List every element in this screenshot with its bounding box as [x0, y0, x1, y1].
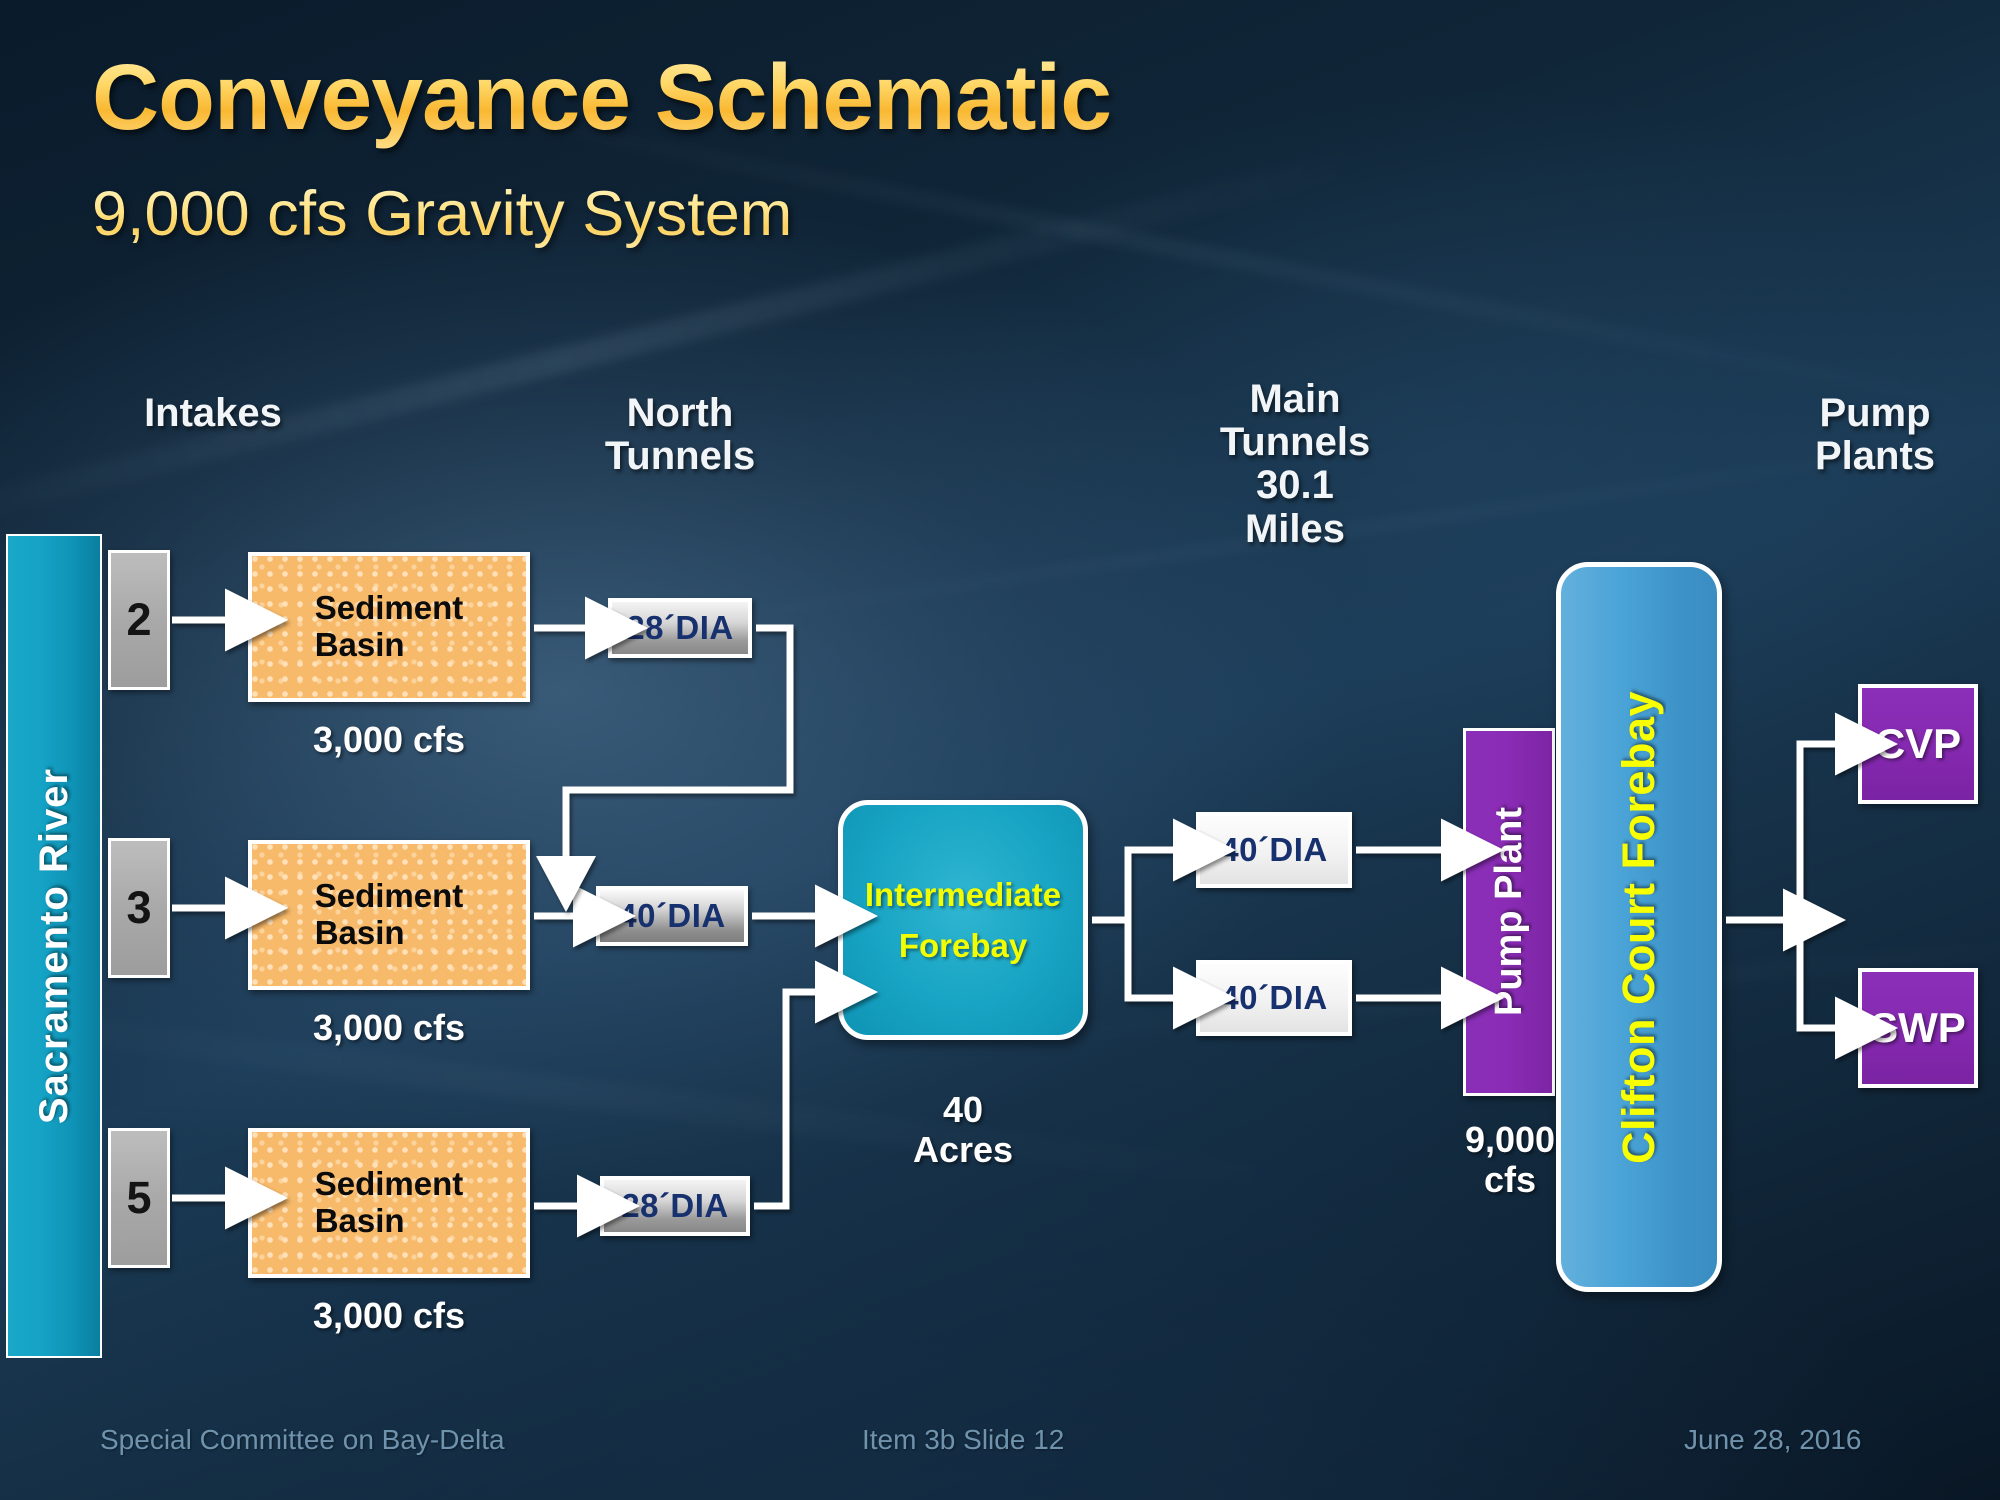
intermediate-forebay-line1: Intermediate: [865, 869, 1061, 920]
slide-canvas: Conveyance Schematic 9,000 cfs Gravity S…: [0, 0, 2000, 1500]
intake-box-3[interactable]: 3: [108, 838, 170, 978]
intermediate-forebay-area: 40 Acres: [838, 1090, 1088, 1171]
north-tunnel-28dia-top[interactable]: 28´DIA: [608, 598, 752, 658]
footer-center: Item 3b Slide 12: [862, 1424, 1064, 1456]
column-header-pump-plants: Pump Plants: [1770, 392, 1980, 478]
delivery-cvp[interactable]: CVP: [1858, 684, 1978, 804]
column-header-main-tunnels: Main Tunnels 30.1 Miles: [1175, 378, 1415, 551]
flow-label-basin-1: 3,000 cfs: [248, 720, 530, 760]
intake-box-5[interactable]: 5: [108, 1128, 170, 1268]
river-label: Sacramento River: [32, 768, 77, 1124]
slide-title: Conveyance Schematic: [92, 44, 1111, 151]
footer-right: June 28, 2016: [1684, 1424, 1862, 1456]
column-header-north-tunnels: North Tunnels: [570, 392, 790, 478]
intake-box-2[interactable]: 2: [108, 550, 170, 690]
flow-label-basin-2: 3,000 cfs: [248, 1008, 530, 1048]
sediment-basin-3[interactable]: Sediment Basin: [248, 1128, 530, 1278]
north-tunnel-40dia-middle[interactable]: 40´DIA: [596, 886, 748, 946]
sediment-basin-1[interactable]: Sediment Basin: [248, 552, 530, 702]
slide-footer: Special Committee on Bay-Delta Item 3b S…: [0, 1424, 2000, 1474]
slide-subtitle: 9,000 cfs Gravity System: [92, 178, 792, 250]
sediment-basin-2[interactable]: Sediment Basin: [248, 840, 530, 990]
main-tunnel-40dia-top[interactable]: 40´DIA: [1196, 812, 1352, 888]
delivery-swp[interactable]: SWP: [1858, 968, 1978, 1088]
north-tunnel-28dia-bottom[interactable]: 28´DIA: [600, 1176, 750, 1236]
clifton-court-forebay[interactable]: Clifton Court Forebay: [1556, 562, 1722, 1292]
clifton-court-forebay-label: Clifton Court Forebay: [1613, 691, 1665, 1164]
intermediate-forebay[interactable]: Intermediate Forebay: [838, 800, 1088, 1040]
flow-label-basin-3: 3,000 cfs: [248, 1296, 530, 1336]
sacramento-river-bar: Sacramento River: [6, 534, 102, 1358]
main-tunnel-40dia-bottom[interactable]: 40´DIA: [1196, 960, 1352, 1036]
background-streak: [0, 983, 1396, 1208]
footer-left: Special Committee on Bay-Delta: [100, 1424, 505, 1456]
column-header-intakes: Intakes: [98, 392, 328, 435]
pump-plant[interactable]: Pump Plant: [1463, 728, 1555, 1096]
intermediate-forebay-line2: Forebay: [899, 920, 1027, 971]
pump-plant-label: Pump Plant: [1488, 807, 1531, 1016]
